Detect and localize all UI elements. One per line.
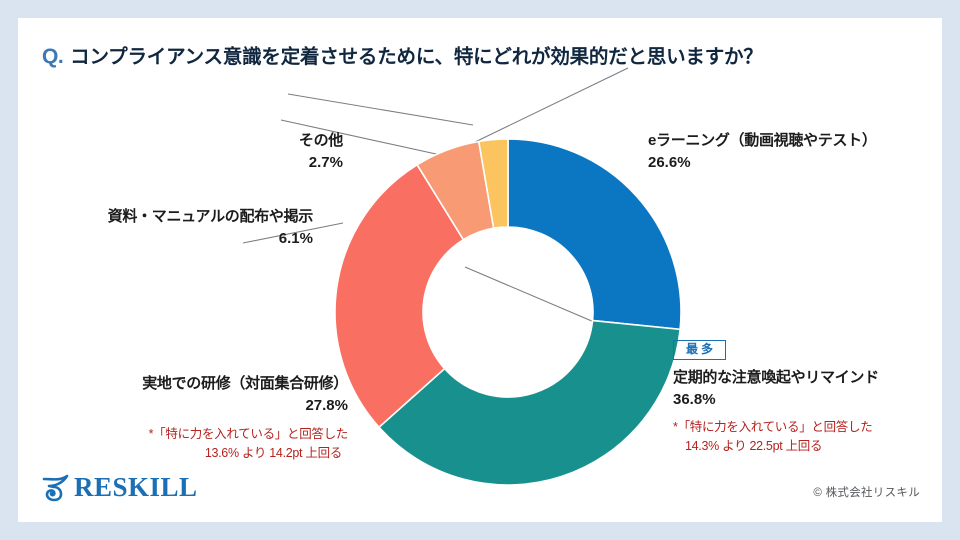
status-badge-most: 最多 <box>673 340 726 360</box>
slice-label-regular-title: 定期的な注意喚起やリマインド <box>673 367 879 389</box>
slice-note-regular-line2: 14.3% より 22.5pt 上回る <box>673 437 879 456</box>
copyright-text: © 株式会社リスキル <box>813 484 920 500</box>
slide-card: Q. コンプライアンス意識を定着させるために、特にどれが効果的だと思いますか？ … <box>18 18 942 522</box>
slice-label-onsite: 実地での研修（対面集合研修） 27.8% *「特に力を入れている」と回答した 1… <box>58 373 348 463</box>
slice-label-regular-value: 36.8% <box>673 389 879 412</box>
slice-note-onsite-line2: 13.6% より 14.2pt 上回る <box>58 444 348 463</box>
reskill-logo-text: RESKILL <box>74 474 198 501</box>
slice-label-elearning-value: 26.6% <box>648 152 877 175</box>
slice-label-other-title: その他 <box>173 130 343 152</box>
question-text: コンプライアンス意識を定着させるために、特にどれが効果的だと思いますか？ <box>70 40 762 69</box>
donut-chart <box>317 121 699 503</box>
slice-label-material-title: 資料・マニュアルの配布や掲示 <box>48 206 313 228</box>
slice-label-onsite-title: 実地での研修（対面集合研修） <box>58 373 348 395</box>
slice-label-material-value: 6.1% <box>48 228 313 251</box>
slice-label-material: 資料・マニュアルの配布や掲示 6.1% <box>48 206 313 250</box>
slice-label-onsite-value: 27.8% <box>58 395 348 418</box>
donut-chart-svg <box>317 121 699 503</box>
slice-label-regular: 最多 定期的な注意喚起やリマインド 36.8% *「特に力を入れている」と回答し… <box>673 340 879 456</box>
reskill-bird-icon <box>40 472 70 502</box>
page-title: Q. コンプライアンス意識を定着させるために、特にどれが効果的だと思いますか？ <box>42 40 763 69</box>
slide-root: Q. コンプライアンス意識を定着させるために、特にどれが効果的だと思いますか？ … <box>0 0 960 540</box>
slice-label-other: その他 2.7% <box>173 130 343 174</box>
slice-label-elearning-title: eラーニング（動画視聴やテスト） <box>648 130 877 152</box>
slice-label-elearning: eラーニング（動画視聴やテスト） 26.6% <box>648 130 877 174</box>
slice-label-other-value: 2.7% <box>173 152 343 175</box>
slice-note-regular-line1: *「特に力を入れている」と回答した <box>673 418 879 437</box>
slice-note-onsite-line1: *「特に力を入れている」と回答した <box>58 425 348 444</box>
question-marker: Q. <box>42 45 63 69</box>
reskill-logo: RESKILL <box>40 472 198 502</box>
